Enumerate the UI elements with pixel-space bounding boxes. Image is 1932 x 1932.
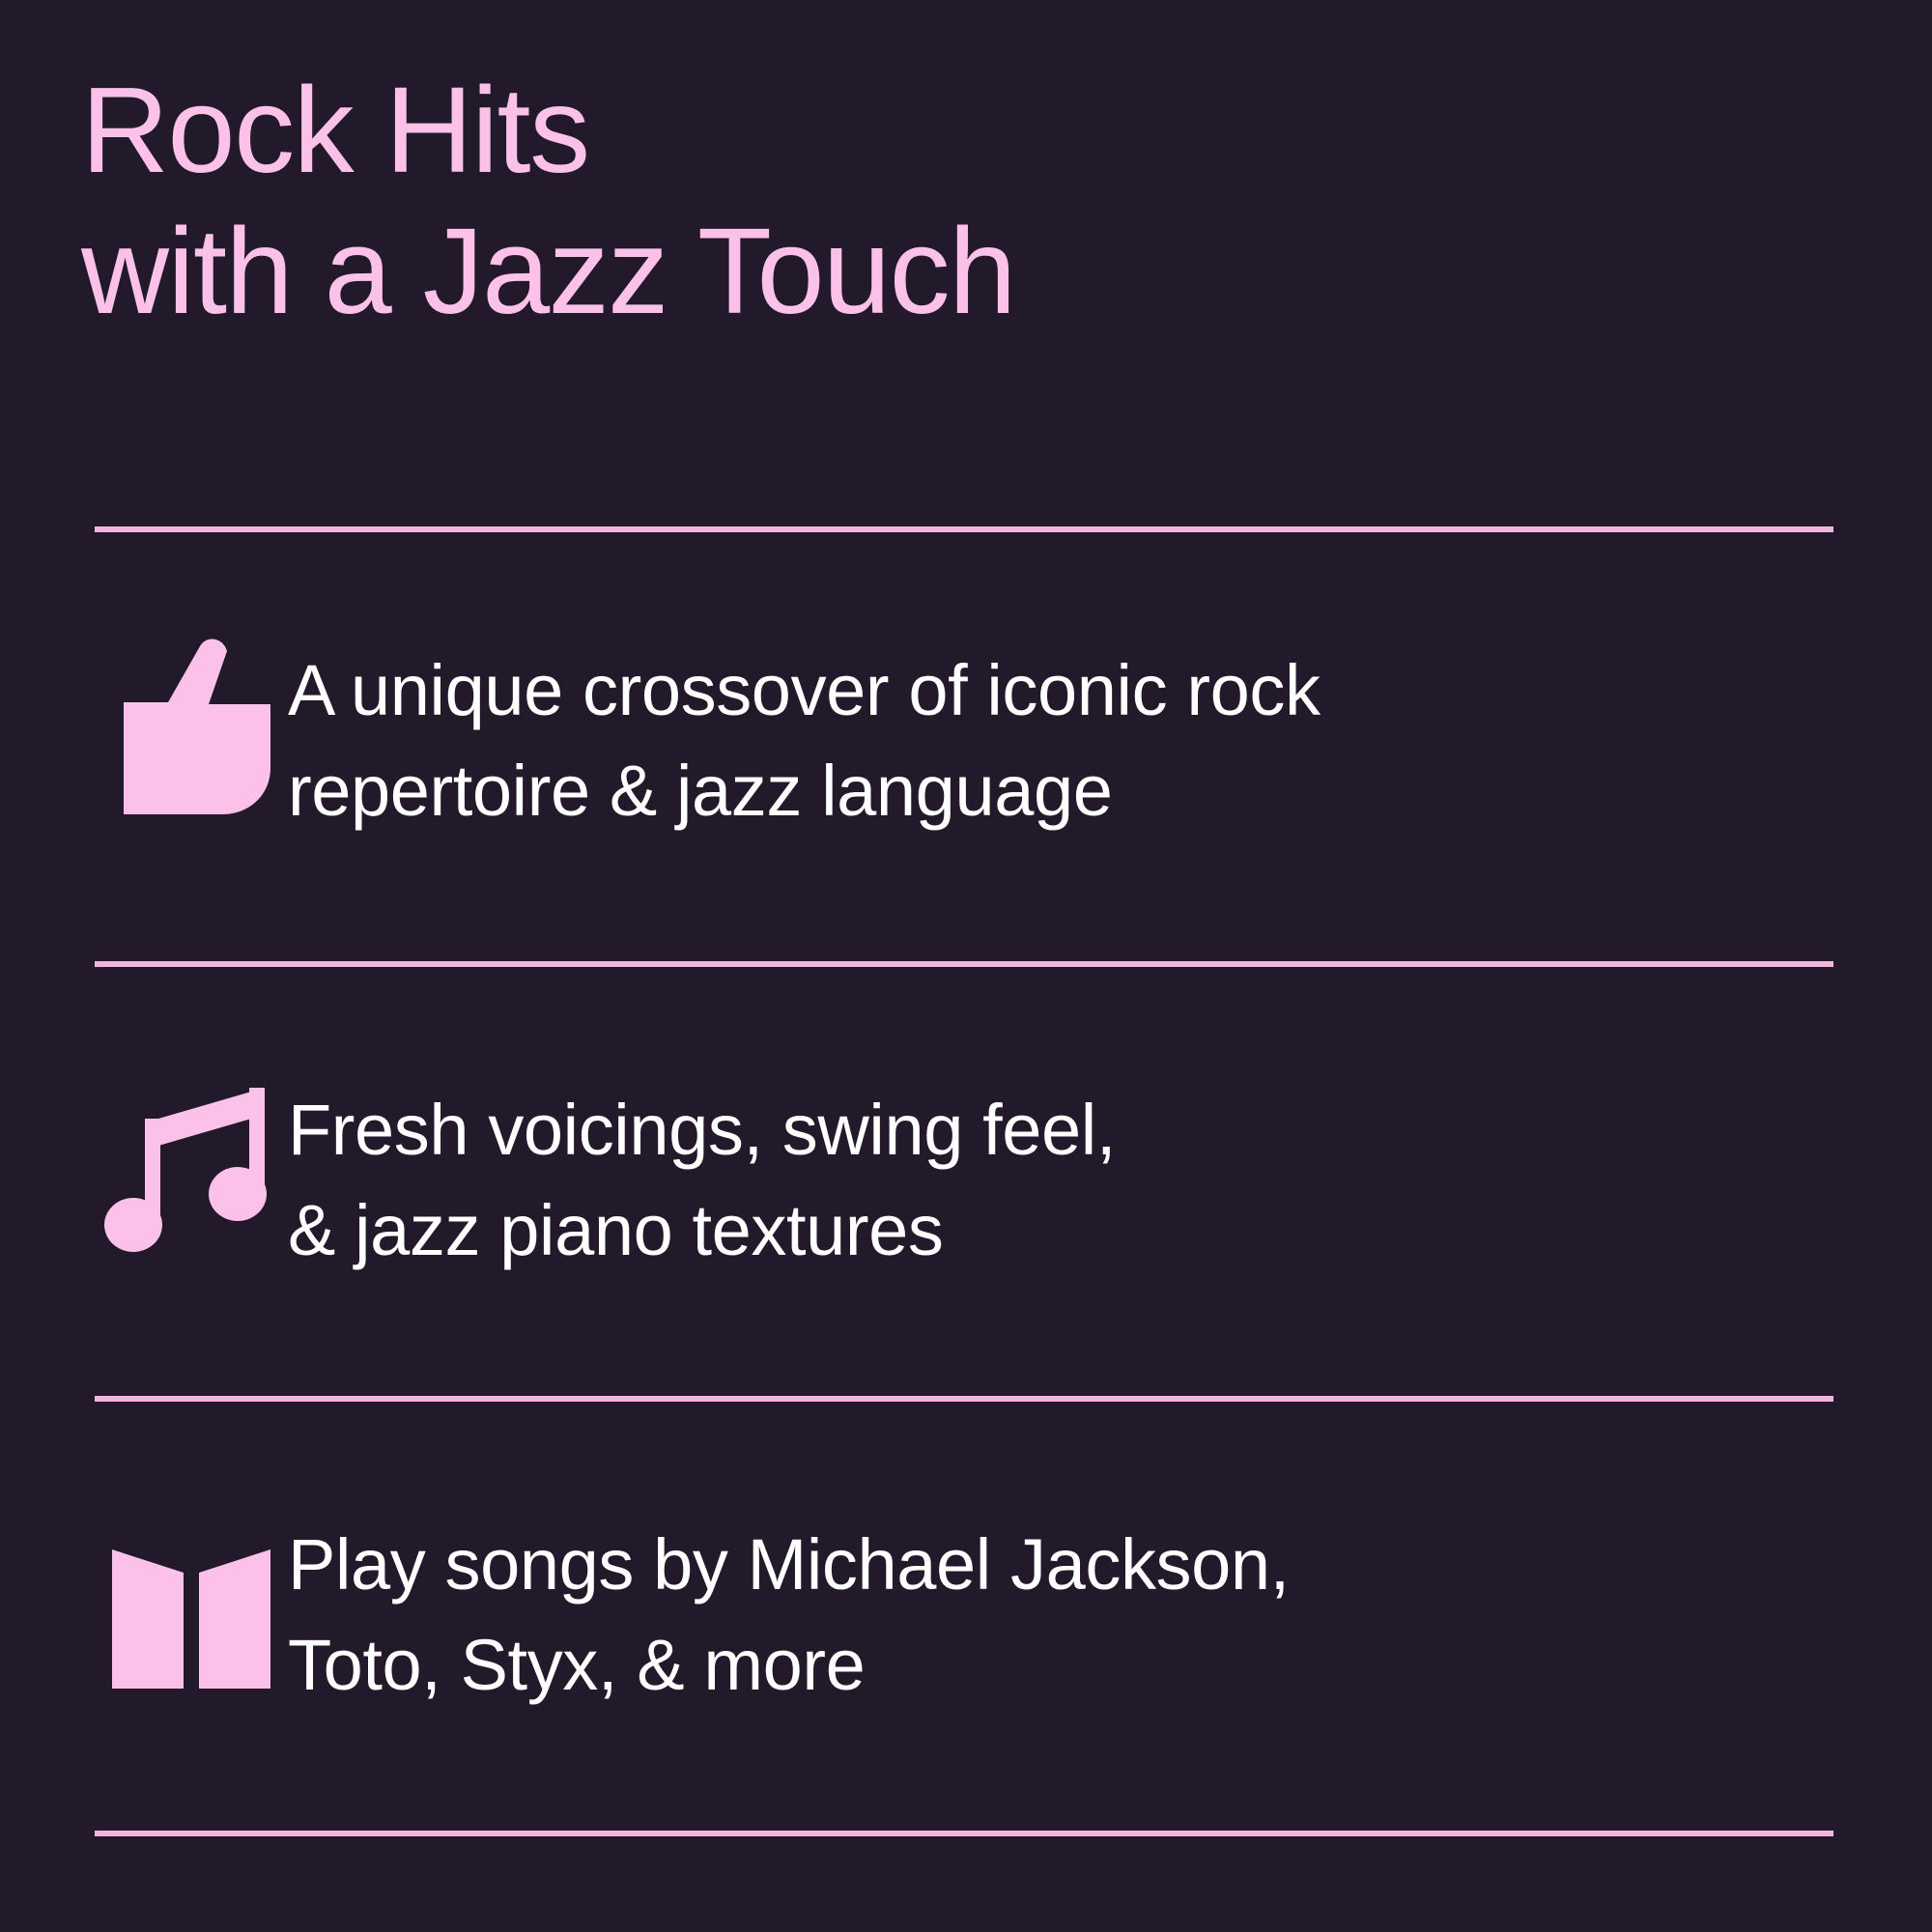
page-title: Rock Hits with a Jazz Touch: [81, 60, 1530, 342]
feature-3-line-1: Play songs by Michael Jackson,: [288, 1515, 1833, 1615]
thumbs-up-icon: [95, 633, 288, 826]
feature-row-3: Play songs by Michael Jackson, Toto, Sty…: [95, 1507, 1833, 1716]
feature-text-1: A unique crossover of iconic rock repert…: [288, 633, 1833, 841]
title-line-1: Rock Hits: [81, 60, 1530, 201]
open-book-icon: [95, 1507, 288, 1700]
feature-text-2: Fresh voicings, swing feel, & jazz piano…: [288, 1072, 1833, 1281]
feature-1-line-1: A unique crossover of iconic rock: [288, 640, 1833, 741]
feature-2-line-1: Fresh voicings, swing feel,: [288, 1080, 1833, 1180]
divider-3: [95, 1396, 1833, 1402]
feature-row-2: Fresh voicings, swing feel, & jazz piano…: [95, 1072, 1833, 1281]
feature-text-3: Play songs by Michael Jackson, Toto, Sty…: [288, 1507, 1833, 1716]
promo-card: Rock Hits with a Jazz Touch A unique cro…: [0, 0, 1932, 1932]
music-note-icon: [95, 1072, 288, 1265]
divider-2: [95, 961, 1833, 967]
feature-row-1: A unique crossover of iconic rock repert…: [95, 633, 1833, 841]
title-line-2: with a Jazz Touch: [81, 201, 1530, 342]
feature-2-line-2: & jazz piano textures: [288, 1180, 1833, 1281]
divider-1: [95, 526, 1833, 532]
feature-1-line-2: repertoire & jazz language: [288, 741, 1833, 841]
feature-3-line-2: Toto, Styx, & more: [288, 1615, 1833, 1716]
divider-4: [95, 1831, 1833, 1836]
